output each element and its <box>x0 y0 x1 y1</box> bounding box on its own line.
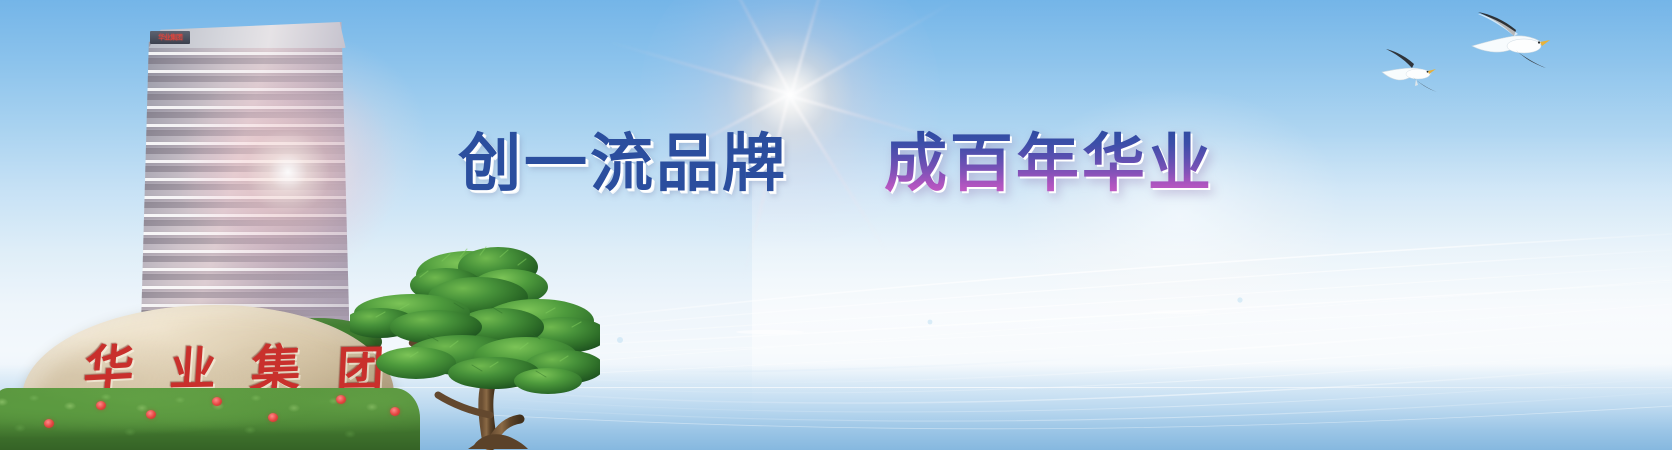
hedge-flower-icon <box>44 419 54 428</box>
foreground-hedge <box>0 388 420 450</box>
tower-floor-bands <box>136 22 350 352</box>
hedge-flower-icon <box>96 401 106 410</box>
hedge-flower-icon <box>268 413 278 422</box>
hedge-flower-icon <box>146 410 156 419</box>
hedge-foliage-texture <box>0 388 420 450</box>
office-tower: 华业集团 <box>136 22 350 352</box>
company-hero-banner: 华业集团 华 业 集 团 <box>0 0 1672 450</box>
hedge-flower-icon <box>212 397 222 406</box>
hedge-flower-icon <box>336 395 346 404</box>
rooftop-sign-text: 华业集团 <box>158 34 182 41</box>
rooftop-sign: 华业集团 <box>150 31 190 44</box>
hedge-flower-icon <box>390 407 400 416</box>
